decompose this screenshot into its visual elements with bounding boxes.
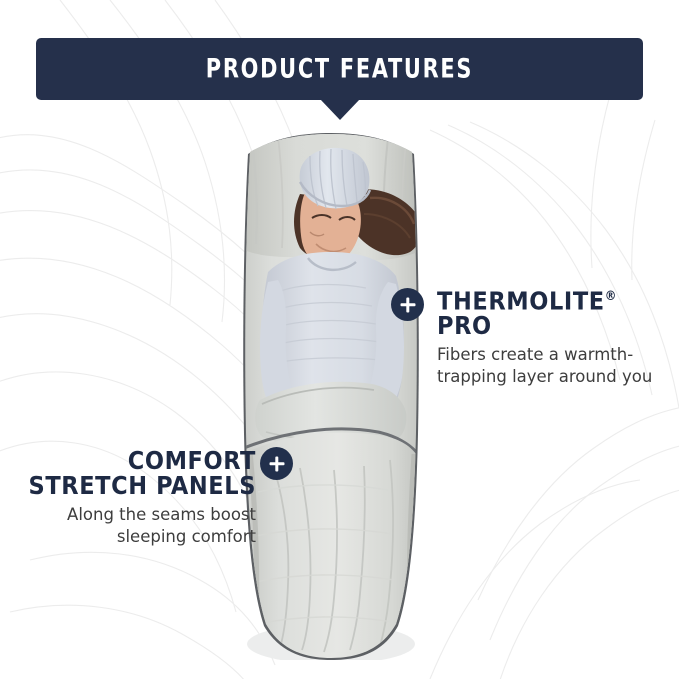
banner-notch-triangle <box>320 99 360 120</box>
product-image <box>238 132 424 660</box>
callout-comfort: COMFORT STRETCH PANELS Along the seams b… <box>0 448 256 547</box>
product-features-infographic: PRODUCT FEATURES <box>0 0 679 679</box>
callout-thermolite-heading: THERMOLITE® PRO <box>437 284 669 338</box>
callout-thermolite: THERMOLITE® PRO Fibers create a warmth-t… <box>437 284 669 387</box>
plus-icon-comfort[interactable] <box>260 447 293 480</box>
callout-comfort-heading: COMFORT STRETCH PANELS <box>0 448 256 498</box>
registered-trademark-icon: ® <box>605 289 617 304</box>
header-banner: PRODUCT FEATURES <box>36 38 643 100</box>
callout-comfort-body: Along the seams boost sleeping comfort <box>0 504 256 547</box>
page-title: PRODUCT FEATURES <box>78 54 600 85</box>
plus-icon-thermolite[interactable] <box>391 288 424 321</box>
callout-thermolite-heading-line2: PRO <box>437 311 492 340</box>
callout-thermolite-body: Fibers create a warmth-trapping layer ar… <box>437 344 669 387</box>
callout-comfort-heading-line2: STRETCH PANELS <box>29 471 256 500</box>
